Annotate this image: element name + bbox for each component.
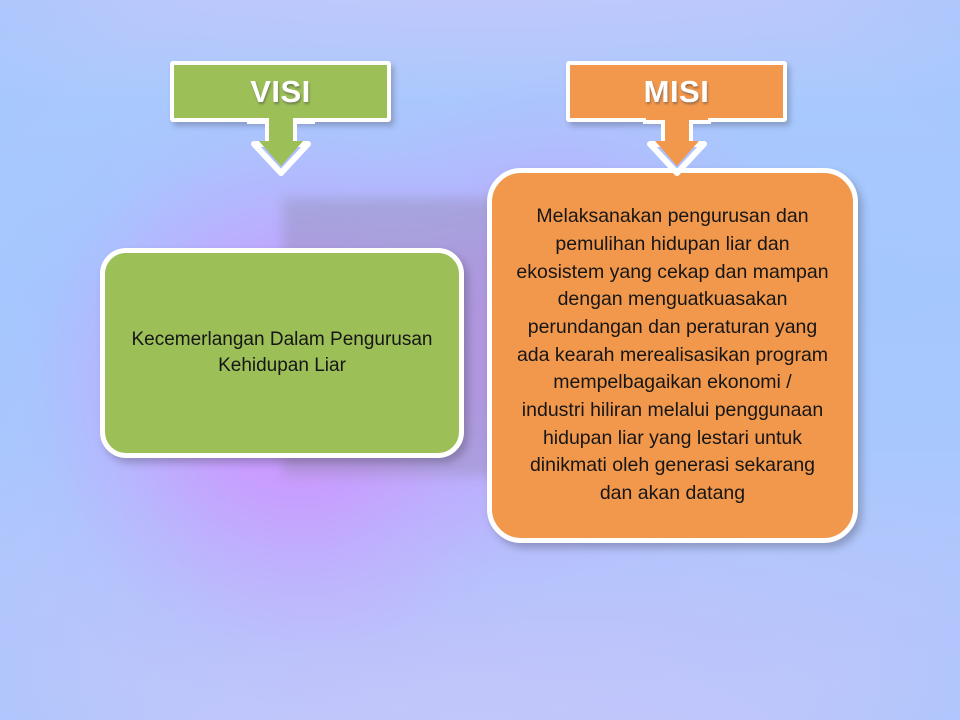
- visi-header-banner[interactable]: VISI: [170, 61, 391, 122]
- visi-body-text: Kecemerlangan Dalam Pengurusan Kehidupan…: [113, 327, 450, 379]
- misi-header-banner[interactable]: MISI: [566, 61, 787, 122]
- misi-body-text: Melaksanakan pengurusan dan pemulihan hi…: [502, 203, 842, 508]
- misi-header-label: MISI: [644, 74, 710, 110]
- visi-arrow-down-icon: [244, 118, 318, 176]
- misi-content-box[interactable]: Melaksanakan pengurusan dan pemulihan hi…: [487, 168, 858, 543]
- slide-canvas: VISI Kecemerlangan Dalam Pengurusan Kehi…: [0, 0, 960, 720]
- visi-content-box[interactable]: Kecemerlangan Dalam Pengurusan Kehidupan…: [100, 248, 464, 458]
- misi-arrow-down-icon: [640, 118, 714, 176]
- visi-header-label: VISI: [250, 74, 311, 110]
